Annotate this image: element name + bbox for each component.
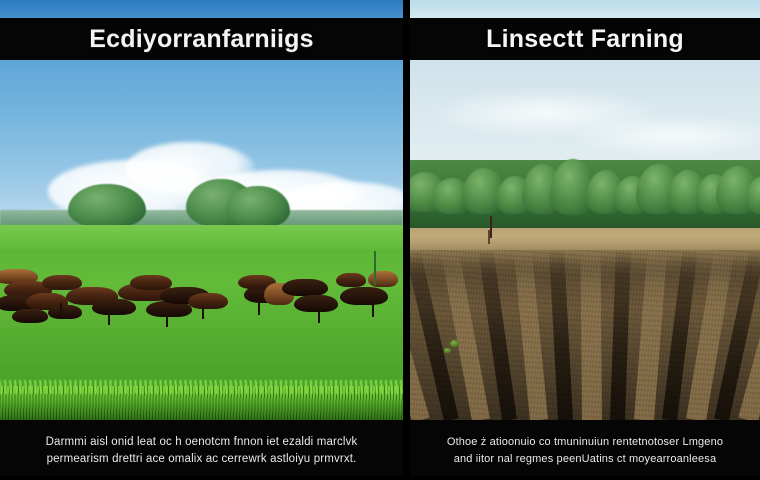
comparison-image: Ecdiyorranfarniigs: [0, 0, 760, 480]
left-caption-band: Darmmi aisl onid leat oc h oenotcm fnnon…: [0, 420, 403, 480]
right-caption-band: Othoe ż atioonuio co tmuninuiun rentetno…: [410, 420, 760, 480]
right-title-text: Linsectt Farning: [486, 25, 684, 54]
cow: [92, 299, 136, 315]
fence-post-2: [488, 230, 490, 244]
left-caption-line-2: permearism drettri ace omalix ac cerrewr…: [47, 452, 357, 466]
left-title-band: Ecdiyorranfarniigs: [0, 18, 403, 60]
right-caption-line-1: Othoe ż atioonuio co tmuninuiun rentetno…: [447, 435, 723, 449]
fence-post-1: [490, 216, 492, 238]
cow: [130, 275, 172, 290]
cow: [48, 305, 82, 319]
big-tree-left: [68, 184, 146, 228]
cow: [368, 271, 398, 287]
cow: [282, 279, 328, 296]
cow-leg: [202, 307, 204, 319]
cow: [188, 293, 228, 309]
cow-leg: [372, 303, 374, 317]
left-scene-pasture: [0, 60, 403, 420]
cow-leg: [108, 313, 110, 325]
cow: [12, 309, 48, 323]
big-tree-right-b: [226, 186, 290, 228]
cow-leg: [258, 301, 260, 315]
left-top-sky-strip: [0, 0, 403, 18]
bottom-border: [0, 476, 760, 480]
cow: [340, 287, 388, 305]
cow: [294, 295, 338, 312]
soil-texture: [410, 250, 760, 420]
fence-post-left: [374, 251, 376, 285]
pasture-far-band: [0, 225, 403, 249]
weed-sprout: [444, 348, 451, 353]
right-title-band: Linsectt Farning: [410, 18, 760, 60]
left-caption-line-1: Darmmi aisl onid leat oc h oenotcm fnnon…: [46, 435, 358, 449]
grass-foreground: [0, 386, 403, 420]
right-top-sky-strip: [410, 0, 760, 18]
left-panel-sustainable-farming: Ecdiyorranfarniigs: [0, 0, 403, 480]
plowed-soil: [410, 250, 760, 420]
panel-divider: [403, 0, 410, 480]
right-scene-plowed-field: [410, 60, 760, 420]
right-panel-intensive-farming: Linsectt Farning: [410, 0, 760, 480]
cow-leg: [166, 315, 168, 327]
left-title-text: Ecdiyorranfarniigs: [89, 25, 314, 54]
cow-leg: [318, 311, 320, 323]
left-pasture-field: [0, 225, 403, 420]
cow-leg: [60, 303, 62, 317]
weed-sprout: [450, 340, 459, 347]
right-caption-line-2: and iitor nal regmes peenUatins ct moyea…: [454, 452, 716, 466]
cow: [336, 273, 366, 287]
